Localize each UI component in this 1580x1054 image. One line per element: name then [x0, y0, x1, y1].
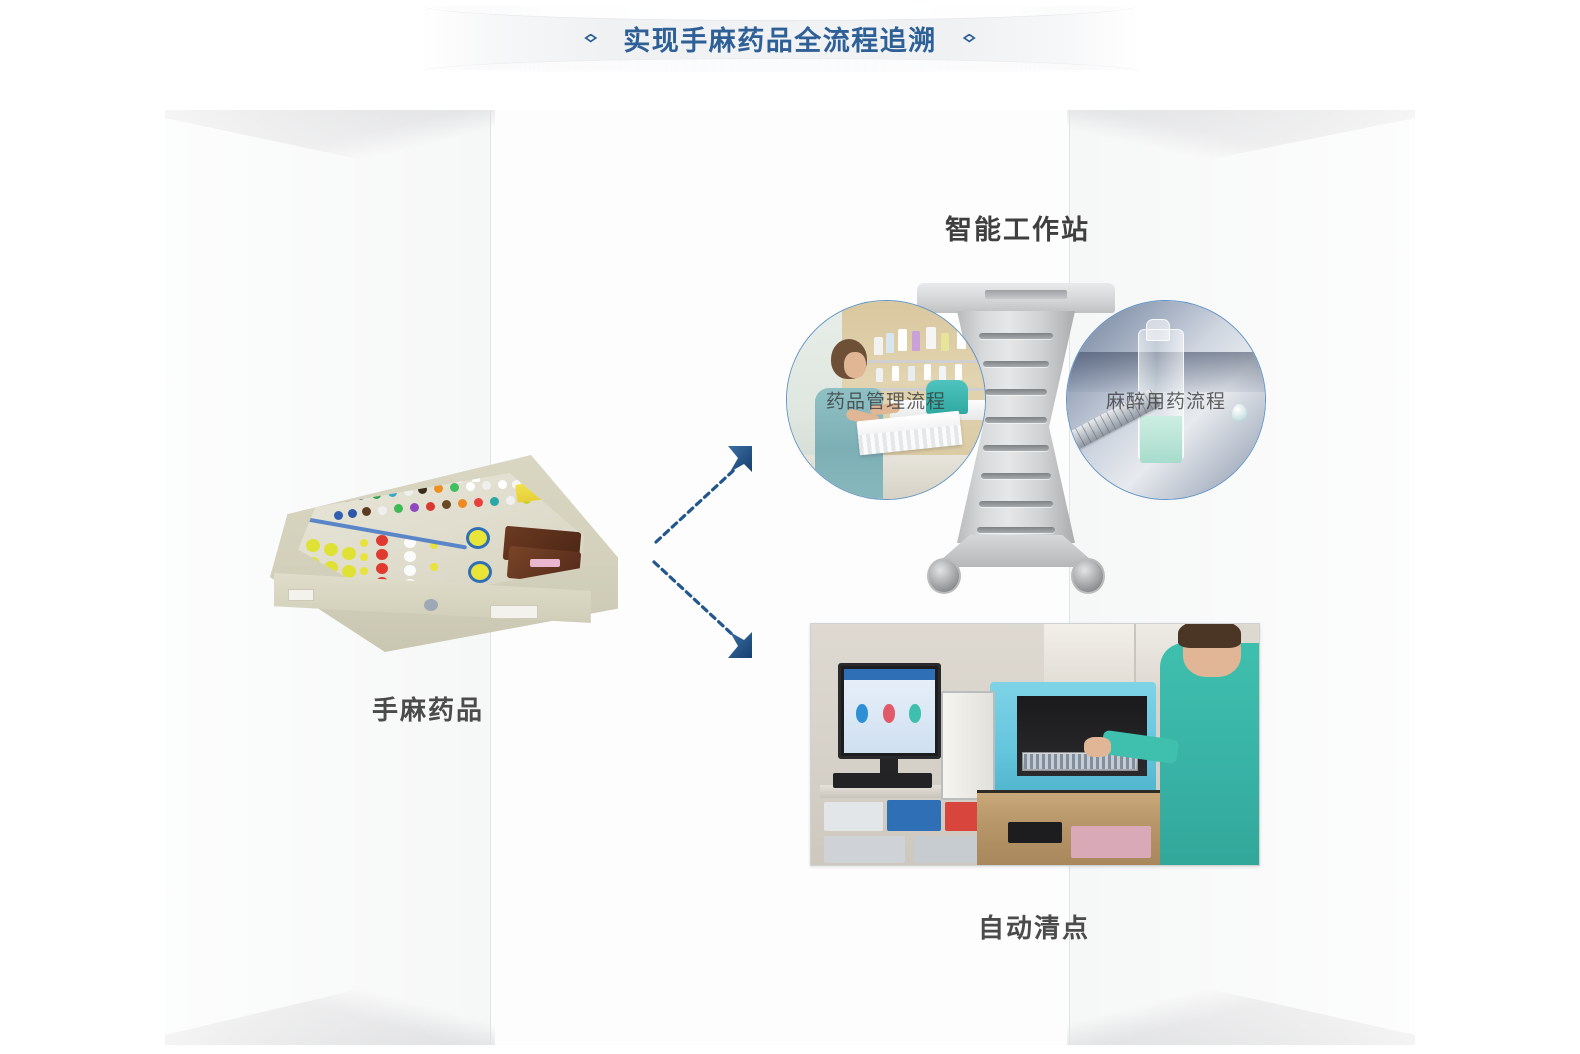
circle-anesthesia-use: 麻醉用药流程 [1066, 300, 1266, 500]
cart-wheel-right [1071, 558, 1105, 594]
page-title: 实现手麻药品全流程追溯 [623, 19, 937, 58]
circle-label-drug-management: 药品管理流程 [787, 387, 985, 414]
drug-tray-image [262, 455, 622, 655]
diamond-icon-left [584, 34, 597, 43]
cart-top-handle [985, 290, 1067, 299]
auto-counting-image [810, 623, 1260, 866]
counting-caption: 自动清点 [978, 908, 1090, 945]
connector-arrows [630, 430, 790, 670]
circle-label-anesthesia-use: 麻醉用药流程 [1067, 387, 1265, 414]
title-row: 实现手麻药品全流程追溯 [420, 6, 1140, 70]
circle-drug-management: 药品管理流程 [786, 300, 986, 500]
arrow-to-counting [654, 562, 752, 658]
diamond-icon-right [963, 34, 976, 43]
slide-canvas: 实现手麻药品全流程追溯 [0, 0, 1580, 1054]
arrow-to-workstation [656, 446, 752, 542]
cart-wheel-left [927, 558, 961, 594]
workstation-title: 智能工作站 [945, 208, 1090, 247]
source-caption: 手麻药品 [372, 690, 484, 727]
